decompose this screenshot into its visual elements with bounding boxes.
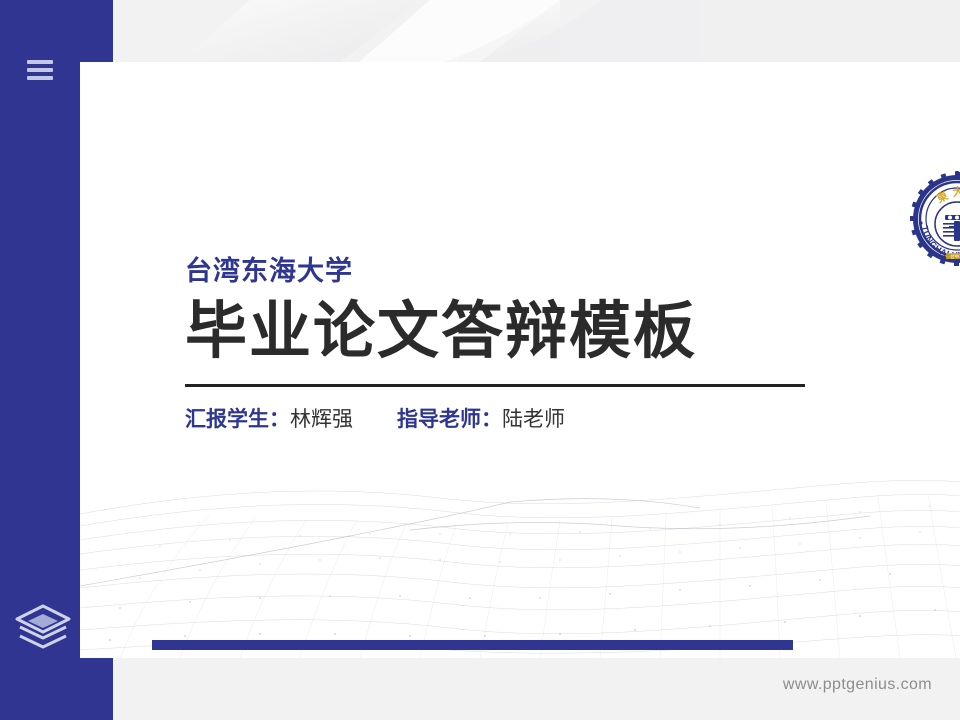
presenter-name: 林辉强 [290,408,353,431]
hamburger-menu-icon[interactable] [27,60,53,80]
advisor-name: 陆老师 [502,408,565,431]
footer-url: www.pptgenius.com [783,676,932,694]
slide-card: 東 大 海 學 [80,62,960,658]
bottom-accent-bar [152,640,793,650]
page-title: 毕业论文答辩模板 [185,299,825,366]
advisor-label: 指导老师： [397,408,502,431]
menu-bar-2 [27,68,53,72]
university-seal-icon: 東 大 海 學 [909,171,960,267]
svg-text:大: 大 [952,184,960,199]
title-divider [185,384,805,387]
presenter-group: 汇报学生：林辉强 [185,409,353,430]
menu-bar-3 [27,76,53,80]
svg-text:台中市: 台中市 [950,253,960,260]
stacked-layers-icon[interactable] [14,602,72,656]
advisor-group: 指导老师：陆老师 [397,409,565,430]
title-block: 台湾东海大学 毕业论文答辩模板 汇报学生：林辉强 指导老师：陆老师 [185,258,825,430]
byline: 汇报学生：林辉强 指导老师：陆老师 [185,409,825,430]
menu-bar-1 [27,60,53,64]
university-name: 台湾东海大学 [185,258,825,285]
wireframe-mesh-decoration [80,458,960,658]
presenter-label: 汇报学生： [185,408,290,431]
slide-stage: 東 大 海 學 [0,0,960,720]
